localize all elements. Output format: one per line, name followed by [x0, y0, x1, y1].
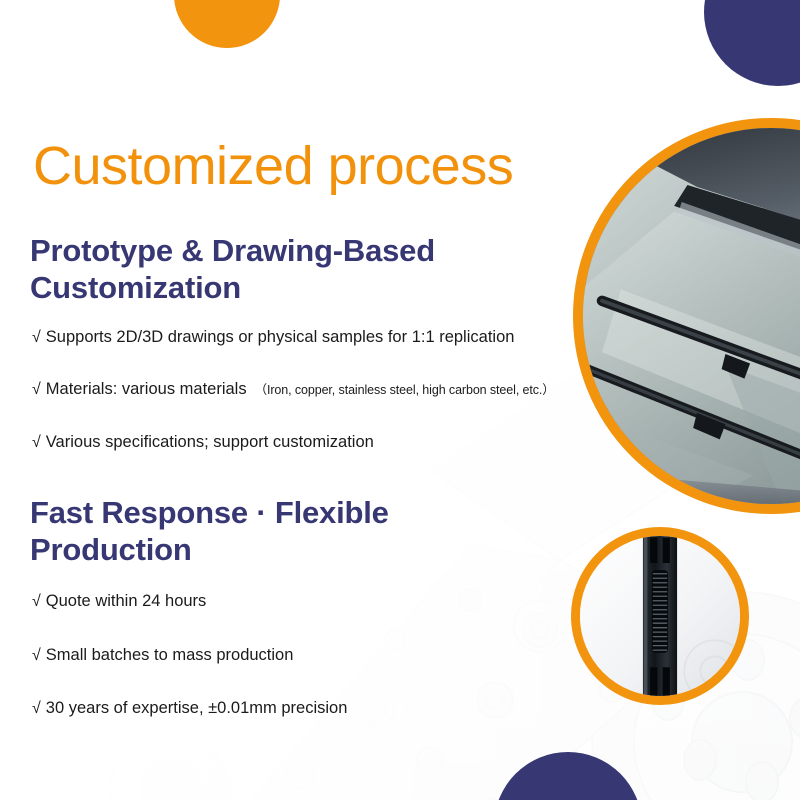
text-content: Customized process Prototype & Drawing-B…: [0, 0, 620, 800]
list-item: √30 years of expertise, ±0.01mm precisio…: [30, 698, 500, 719]
section-fast-response: Fast Response · Flexible Production √Quo…: [30, 494, 500, 719]
poster: Customized process Prototype & Drawing-B…: [0, 0, 800, 800]
check-icon: √: [32, 433, 41, 453]
list-item-text: Various specifications; support customiz…: [46, 433, 374, 451]
list-item: √Various specifications; support customi…: [30, 432, 555, 453]
list-item: √Small batches to mass production: [30, 645, 500, 666]
list-item-text: Materials: various materials: [46, 380, 247, 398]
check-icon: √: [32, 328, 41, 348]
bullet-list: √Supports 2D/3D drawings or physical sam…: [30, 327, 555, 453]
list-item-text: Small batches to mass production: [46, 646, 294, 664]
list-item: √Supports 2D/3D drawings or physical sam…: [30, 327, 555, 348]
check-icon: √: [32, 646, 41, 666]
list-item: √Quote within 24 hours: [30, 591, 500, 612]
list-item-note: （Iron, copper, stainless steel, high car…: [255, 383, 555, 397]
check-icon: √: [32, 592, 41, 612]
section-heading: Prototype & Drawing-Based Customization: [30, 232, 500, 306]
page-title: Customized process: [33, 136, 513, 196]
list-item-text: 30 years of expertise, ±0.01mm precision: [46, 699, 348, 717]
list-item-text: Quote within 24 hours: [46, 592, 207, 610]
list-item: √Materials: various materials（Iron, copp…: [30, 379, 555, 400]
purple-circle-top-right: [704, 0, 800, 86]
check-icon: √: [32, 699, 41, 719]
check-icon: √: [32, 380, 41, 400]
bullet-list: √Quote within 24 hours √Small batches to…: [30, 591, 500, 719]
section-heading: Fast Response · Flexible Production: [30, 494, 500, 568]
list-item-text: Supports 2D/3D drawings or physical samp…: [46, 328, 515, 346]
section-prototype-customization: Prototype & Drawing-Based Customization …: [30, 232, 555, 453]
